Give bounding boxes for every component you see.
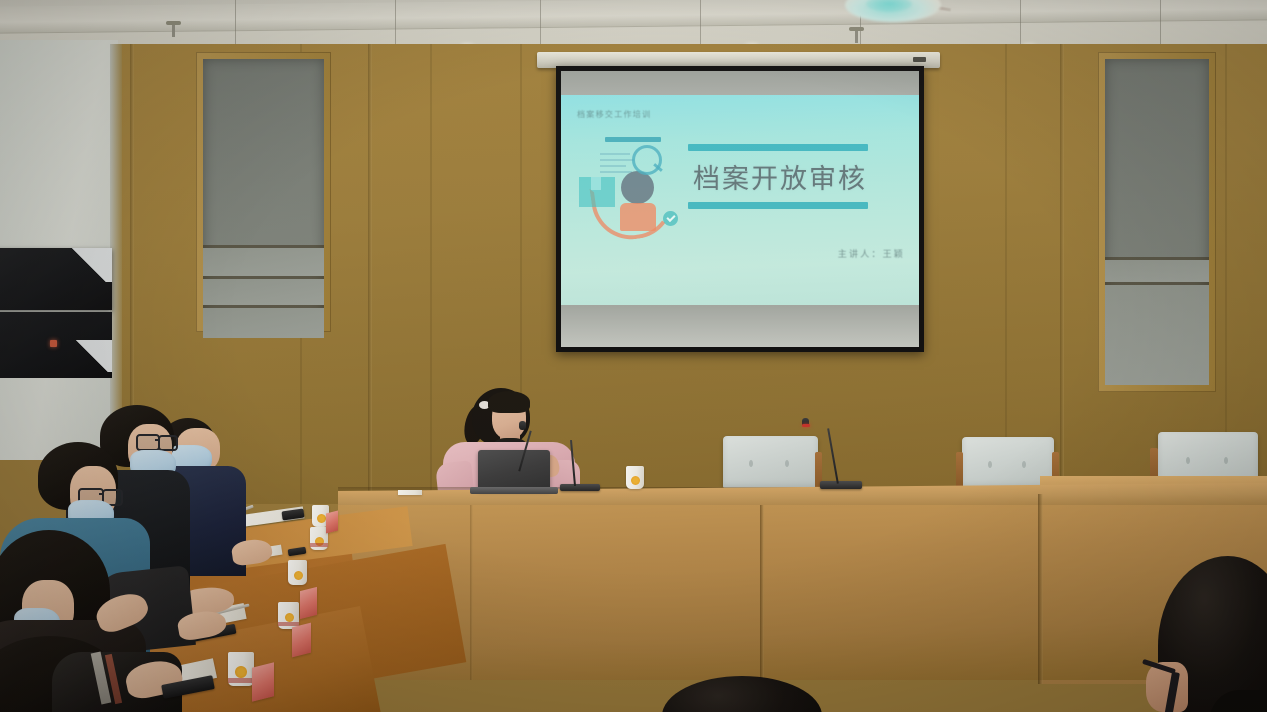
podium-seam bbox=[470, 505, 473, 680]
power-led-icon bbox=[50, 340, 57, 347]
paper-cup bbox=[288, 560, 307, 585]
folder-notch bbox=[591, 177, 601, 190]
name-card bbox=[300, 587, 317, 619]
illustration-tick bbox=[600, 159, 634, 161]
presentation-slide: 档案移交工作培训 档案开放审核 bbox=[561, 95, 919, 305]
slide-title: 档案开放审核 bbox=[693, 157, 867, 196]
paper-cup bbox=[626, 466, 644, 489]
wall-grain bbox=[430, 44, 432, 504]
name-card bbox=[252, 662, 274, 701]
acoustic-panel-surface bbox=[203, 59, 324, 325]
panel-lower-strip bbox=[1105, 260, 1209, 282]
screen-surface: 档案移交工作培训 档案开放审核 bbox=[561, 71, 919, 347]
paper-sheet bbox=[398, 490, 422, 495]
acoustic-panel-surface bbox=[1105, 59, 1209, 385]
name-card bbox=[292, 623, 311, 658]
slide-title-rule-bottom bbox=[688, 202, 868, 209]
paper-cup bbox=[278, 602, 299, 629]
rack-reflection bbox=[68, 340, 112, 372]
presenter-fringe bbox=[488, 391, 530, 413]
slide-title-rule-top bbox=[688, 144, 868, 151]
microphone-head bbox=[519, 421, 526, 430]
name-card bbox=[326, 511, 338, 534]
eyeglasses-bridge bbox=[99, 493, 104, 495]
panel-lower-strip bbox=[203, 248, 324, 276]
wall-seam bbox=[1060, 44, 1064, 504]
rack-reflection bbox=[62, 248, 112, 282]
projection-screen: 档案移交工作培训 档案开放审核 bbox=[556, 66, 924, 352]
podium-seam bbox=[760, 505, 764, 680]
slide-kicker-text: 档案移交工作培训 bbox=[577, 109, 651, 120]
person-head-icon bbox=[621, 171, 654, 204]
panel-lower-strip bbox=[1105, 285, 1209, 385]
eyeglasses-bridge bbox=[155, 439, 160, 441]
check-badge-icon bbox=[663, 211, 678, 226]
microphone-base bbox=[560, 484, 600, 491]
acoustic-panel bbox=[196, 52, 331, 332]
eyeglasses-lens bbox=[158, 435, 178, 451]
person-body-icon bbox=[620, 203, 656, 231]
conference-room-photo: 档案移交工作培训 档案开放审核 bbox=[0, 0, 1267, 712]
chair bbox=[723, 436, 818, 488]
ceiling-hanger bbox=[855, 30, 858, 43]
chair-arm bbox=[956, 452, 963, 488]
microphone-indicator bbox=[802, 424, 810, 427]
screen-letterbox-bottom bbox=[561, 305, 919, 347]
screen-letterbox-top bbox=[561, 71, 919, 95]
wall-seam bbox=[368, 44, 372, 504]
podium-seam bbox=[1038, 494, 1043, 684]
slide-illustration bbox=[575, 131, 685, 241]
illustration-bar bbox=[605, 137, 661, 142]
illustration-tick bbox=[600, 165, 626, 167]
illustration-tick bbox=[600, 153, 630, 155]
illustration-tick bbox=[600, 171, 632, 173]
eyeglasses-lens bbox=[136, 434, 160, 451]
laptop bbox=[478, 450, 550, 490]
laptop-base bbox=[470, 487, 558, 494]
wall-grain bbox=[1005, 44, 1007, 504]
panel-lower-strip bbox=[203, 279, 324, 305]
foreground-head bbox=[662, 676, 822, 712]
paper-cup bbox=[228, 652, 254, 686]
screen-motor-box bbox=[913, 57, 926, 62]
acoustic-panel bbox=[1098, 52, 1216, 392]
podium-front-panel bbox=[338, 505, 1267, 680]
microphone-base bbox=[820, 481, 862, 489]
panel-lower-strip bbox=[203, 308, 324, 338]
magnifier-icon bbox=[632, 145, 662, 175]
ceiling-hanger bbox=[172, 24, 175, 37]
slide-presenter-credit: 主讲人：王颖 bbox=[838, 247, 905, 260]
av-speaker-cabinet bbox=[0, 248, 112, 310]
